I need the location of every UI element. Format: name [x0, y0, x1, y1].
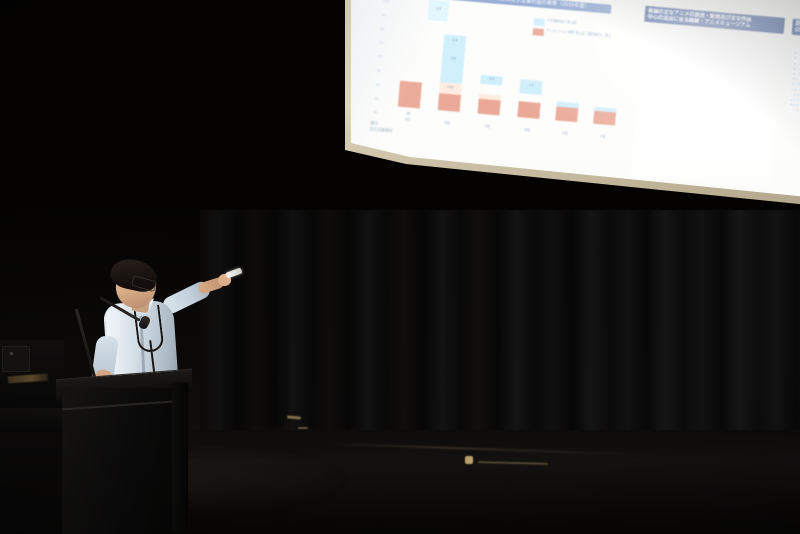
bar-category-label: E社: [548, 130, 582, 138]
bar-group: 1.4 D社: [517, 117, 539, 119]
bar-value-label: 1.8: [442, 56, 464, 61]
legend-swatch-domestic: [533, 28, 545, 36]
highlight-block-value: 2.9: [428, 7, 448, 12]
bar-value-label: 0.6: [480, 77, 502, 82]
bar-value-label: 3.4: [444, 38, 466, 43]
table-row: その他: [789, 108, 800, 123]
floor-light-marker: [465, 456, 473, 464]
bar-segment-domestic: [517, 101, 540, 119]
presenter-remote[interactable]: [225, 267, 242, 278]
right-panel-table: 主な施設 東京都 三鷹の森ジブリ美術館 東京都 サンシャイン60 展望台 東京都…: [784, 40, 800, 128]
y-axis-tick: 100: [383, 0, 389, 3]
chart-panel: 主なアニメ制作会社の売上高及び営業利益の推移（2016年度） 100 90 80…: [372, 0, 634, 176]
bar-category-label: B社: [430, 120, 464, 128]
bar-value-label: 0.87: [440, 85, 462, 90]
bar-segment-domestic: [398, 81, 422, 109]
middle-panel-body: [631, 28, 784, 190]
bar-segment-domestic: [477, 99, 500, 116]
highlight-block-blue: 2.9: [427, 0, 449, 22]
bar-segment-overseas: 1.4: [519, 79, 542, 95]
equipment-indicator-light: [10, 352, 13, 355]
bar-group: E社: [555, 120, 577, 122]
bar-segment-overseas: 3.4 1.8: [440, 34, 466, 84]
y-axis-tick: 60: [378, 55, 382, 59]
bar-category-label: F社: [586, 133, 620, 141]
bar-segment-domestic: [438, 93, 461, 112]
bar-value-label: 1.4: [520, 83, 542, 88]
y-axis-tick: 40: [375, 83, 379, 87]
y-axis-tick: 20: [373, 110, 377, 114]
axis-source: 各社決算資料: [369, 126, 392, 134]
projected-slide: 資料出所：一般社団法人日本動画協会「アニメ産業レポート」ほか各種公表資料より作成…: [334, 0, 800, 216]
bar-value-label: 20: [397, 111, 419, 116]
bar-group: 0.6 C社: [477, 114, 499, 116]
projection-screen: 資料出所：一般社団法人日本動画協会「アニメ産業レポート」ほか各種公表資料より作成…: [318, 0, 800, 240]
bar-category-label: D社: [510, 126, 544, 134]
chart-plot-area: 20 A社 2.9 3.4 1.8: [388, 0, 628, 144]
y-axis-tick: 70: [379, 41, 383, 45]
bar-segment-overseas: 0.6: [480, 75, 503, 86]
y-axis-tick: 30: [374, 97, 378, 101]
legend-label-overseas: うち海外向け 売上高: [547, 19, 577, 25]
y-axis-tick: 80: [380, 27, 384, 31]
bar-group: 3.4 1.8 0.87 B社: [438, 110, 460, 112]
podium-side-panel: [172, 381, 188, 533]
floor-glint: [298, 427, 308, 429]
screen-surface: 資料出所：一般社団法人日本動画協会「アニメ産業レポート」ほか各種公表資料より作成…: [318, 0, 800, 240]
presentation-scene: 資料出所：一般社団法人日本動画協会「アニメ産業レポート」ほか各種公表資料より作成…: [0, 0, 800, 534]
podium-front: [62, 388, 186, 534]
bar-group: 20 A社: [398, 107, 420, 109]
bar-category-label: A社: [391, 116, 425, 124]
bar-segment-domestic: [593, 111, 616, 126]
bar-segment-domestic: [555, 106, 578, 122]
slide-middle-panel: 各国の主なアニメの放送・配信及び主な作品 中心の活況に至る経緯・アニメミュージア…: [630, 6, 785, 198]
bar-category-label: C社: [470, 123, 504, 131]
bar-group: F社: [593, 124, 615, 126]
equipment-front-panel: [2, 346, 30, 372]
legend-swatch-overseas: [533, 18, 545, 26]
y-axis-tick: 90: [382, 13, 386, 17]
y-axis-tick: 50: [377, 69, 381, 73]
